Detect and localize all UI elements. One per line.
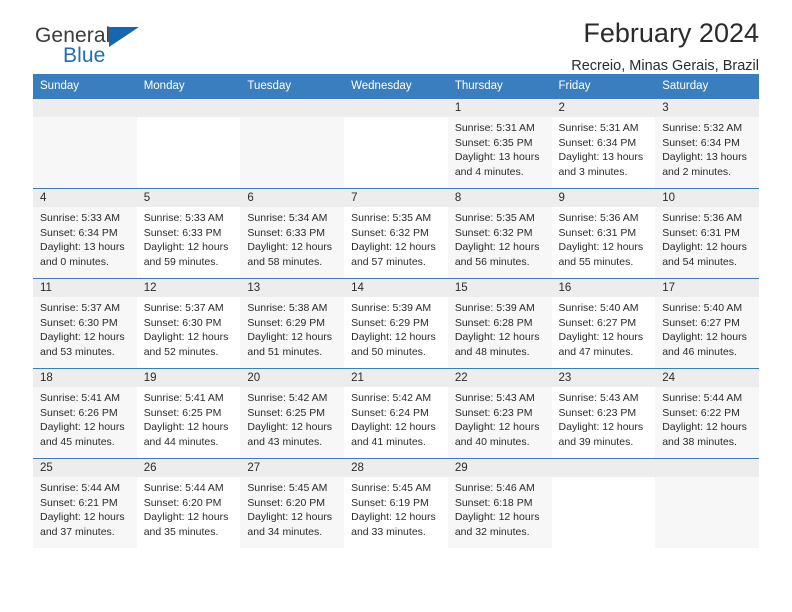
daylight-text-line1: Daylight: 13 hours	[559, 150, 650, 165]
daylight-text-line1: Daylight: 13 hours	[40, 240, 131, 255]
daylight-text-line2: and 2 minutes.	[662, 165, 753, 180]
sunrise-text: Sunrise: 5:38 AM	[247, 301, 338, 316]
day-cell[interactable]: 18 Sunrise: 5:41 AM Sunset: 6:26 PM Dayl…	[33, 369, 137, 459]
calendar-body: 1 Sunrise: 5:31 AM Sunset: 6:35 PM Dayli…	[33, 99, 759, 549]
day-cell[interactable]: 29 Sunrise: 5:46 AM Sunset: 6:18 PM Dayl…	[448, 459, 552, 549]
sunset-text: Sunset: 6:32 PM	[455, 226, 546, 241]
daylight-text-line1: Daylight: 12 hours	[144, 510, 235, 525]
day-number: 11	[33, 279, 137, 297]
day-details: Sunrise: 5:41 AM Sunset: 6:25 PM Dayligh…	[137, 387, 241, 449]
sunrise-text: Sunrise: 5:34 AM	[247, 211, 338, 226]
daylight-text-line2: and 4 minutes.	[455, 165, 546, 180]
daylight-text-line2: and 55 minutes.	[559, 255, 650, 270]
daylight-text-line1: Daylight: 12 hours	[455, 420, 546, 435]
day-number: 29	[448, 459, 552, 477]
daylight-text-line2: and 47 minutes.	[559, 345, 650, 360]
weekday-header-friday: Friday	[552, 74, 656, 99]
general-blue-logo[interactable]: General Blue	[33, 24, 213, 74]
daylight-text-line1: Daylight: 12 hours	[559, 240, 650, 255]
day-cell[interactable]	[552, 459, 656, 549]
sunset-text: Sunset: 6:27 PM	[559, 316, 650, 331]
day-details	[240, 117, 344, 121]
day-number: 9	[552, 189, 656, 207]
sunrise-text: Sunrise: 5:36 AM	[559, 211, 650, 226]
logo-triangle-icon	[109, 27, 139, 47]
day-details: Sunrise: 5:38 AM Sunset: 6:29 PM Dayligh…	[240, 297, 344, 359]
day-details: Sunrise: 5:40 AM Sunset: 6:27 PM Dayligh…	[655, 297, 759, 359]
day-cell[interactable]: 13 Sunrise: 5:38 AM Sunset: 6:29 PM Dayl…	[240, 279, 344, 369]
daylight-text-line1: Daylight: 12 hours	[40, 420, 131, 435]
day-number: 2	[552, 99, 656, 117]
location-subtitle: Recreio, Minas Gerais, Brazil	[571, 57, 759, 75]
week-row: 4 Sunrise: 5:33 AM Sunset: 6:34 PM Dayli…	[33, 189, 759, 279]
day-details: Sunrise: 5:33 AM Sunset: 6:33 PM Dayligh…	[137, 207, 241, 269]
day-cell[interactable]	[137, 99, 241, 189]
day-details: Sunrise: 5:45 AM Sunset: 6:20 PM Dayligh…	[240, 477, 344, 539]
daylight-text-line1: Daylight: 12 hours	[247, 240, 338, 255]
day-cell[interactable]: 19 Sunrise: 5:41 AM Sunset: 6:25 PM Dayl…	[137, 369, 241, 459]
sunrise-text: Sunrise: 5:46 AM	[455, 481, 546, 496]
day-details	[33, 117, 137, 121]
day-cell[interactable]	[655, 459, 759, 549]
day-number: 16	[552, 279, 656, 297]
daylight-text-line2: and 48 minutes.	[455, 345, 546, 360]
day-cell[interactable]: 9 Sunrise: 5:36 AM Sunset: 6:31 PM Dayli…	[552, 189, 656, 279]
sunrise-text: Sunrise: 5:37 AM	[40, 301, 131, 316]
sunrise-text: Sunrise: 5:39 AM	[351, 301, 442, 316]
daylight-text-line2: and 43 minutes.	[247, 435, 338, 450]
day-cell[interactable]: 17 Sunrise: 5:40 AM Sunset: 6:27 PM Dayl…	[655, 279, 759, 369]
day-number: 25	[33, 459, 137, 477]
sunset-text: Sunset: 6:29 PM	[247, 316, 338, 331]
day-number: 27	[240, 459, 344, 477]
day-details: Sunrise: 5:37 AM Sunset: 6:30 PM Dayligh…	[137, 297, 241, 359]
week-row: 25 Sunrise: 5:44 AM Sunset: 6:21 PM Dayl…	[33, 459, 759, 549]
day-cell[interactable]: 26 Sunrise: 5:44 AM Sunset: 6:20 PM Dayl…	[137, 459, 241, 549]
day-cell[interactable]: 21 Sunrise: 5:42 AM Sunset: 6:24 PM Dayl…	[344, 369, 448, 459]
sunset-text: Sunset: 6:20 PM	[144, 496, 235, 511]
day-details: Sunrise: 5:39 AM Sunset: 6:28 PM Dayligh…	[448, 297, 552, 359]
daylight-text-line2: and 45 minutes.	[40, 435, 131, 450]
sunset-text: Sunset: 6:23 PM	[455, 406, 546, 421]
day-number: 14	[344, 279, 448, 297]
sunset-text: Sunset: 6:20 PM	[247, 496, 338, 511]
day-cell[interactable]: 25 Sunrise: 5:44 AM Sunset: 6:21 PM Dayl…	[33, 459, 137, 549]
sunset-text: Sunset: 6:29 PM	[351, 316, 442, 331]
week-row: 11 Sunrise: 5:37 AM Sunset: 6:30 PM Dayl…	[33, 279, 759, 369]
daylight-text-line2: and 35 minutes.	[144, 525, 235, 540]
sunrise-text: Sunrise: 5:44 AM	[144, 481, 235, 496]
sunrise-text: Sunrise: 5:44 AM	[662, 391, 753, 406]
day-number: 13	[240, 279, 344, 297]
weekday-header-saturday: Saturday	[655, 74, 759, 99]
sunrise-text: Sunrise: 5:37 AM	[144, 301, 235, 316]
day-cell[interactable]: 8 Sunrise: 5:35 AM Sunset: 6:32 PM Dayli…	[448, 189, 552, 279]
day-details	[655, 477, 759, 481]
daylight-text-line1: Daylight: 12 hours	[247, 510, 338, 525]
day-cell[interactable]: 7 Sunrise: 5:35 AM Sunset: 6:32 PM Dayli…	[344, 189, 448, 279]
day-number	[552, 459, 656, 477]
sunset-text: Sunset: 6:28 PM	[455, 316, 546, 331]
daylight-text-line1: Daylight: 12 hours	[351, 240, 442, 255]
daylight-text-line2: and 54 minutes.	[662, 255, 753, 270]
weekday-header-row: Sunday Monday Tuesday Wednesday Thursday…	[33, 74, 759, 99]
sunset-text: Sunset: 6:30 PM	[40, 316, 131, 331]
day-number: 26	[137, 459, 241, 477]
daylight-text-line1: Daylight: 12 hours	[247, 330, 338, 345]
sunrise-text: Sunrise: 5:43 AM	[455, 391, 546, 406]
sunset-text: Sunset: 6:25 PM	[144, 406, 235, 421]
daylight-text-line1: Daylight: 12 hours	[40, 330, 131, 345]
daylight-text-line2: and 52 minutes.	[144, 345, 235, 360]
day-details: Sunrise: 5:37 AM Sunset: 6:30 PM Dayligh…	[33, 297, 137, 359]
day-details: Sunrise: 5:39 AM Sunset: 6:29 PM Dayligh…	[344, 297, 448, 359]
day-details: Sunrise: 5:35 AM Sunset: 6:32 PM Dayligh…	[448, 207, 552, 269]
sunrise-text: Sunrise: 5:40 AM	[559, 301, 650, 316]
sunrise-text: Sunrise: 5:35 AM	[351, 211, 442, 226]
daylight-text-line2: and 46 minutes.	[662, 345, 753, 360]
daylight-text-line1: Daylight: 12 hours	[351, 510, 442, 525]
day-cell[interactable]: 27 Sunrise: 5:45 AM Sunset: 6:20 PM Dayl…	[240, 459, 344, 549]
day-cell[interactable]: 11 Sunrise: 5:37 AM Sunset: 6:30 PM Dayl…	[33, 279, 137, 369]
daylight-text-line2: and 41 minutes.	[351, 435, 442, 450]
daylight-text-line1: Daylight: 12 hours	[559, 420, 650, 435]
daylight-text-line1: Daylight: 13 hours	[455, 150, 546, 165]
daylight-text-line2: and 33 minutes.	[351, 525, 442, 540]
daylight-text-line1: Daylight: 12 hours	[662, 330, 753, 345]
daylight-text-line1: Daylight: 13 hours	[662, 150, 753, 165]
day-number: 4	[33, 189, 137, 207]
day-details: Sunrise: 5:43 AM Sunset: 6:23 PM Dayligh…	[448, 387, 552, 449]
sunset-text: Sunset: 6:27 PM	[662, 316, 753, 331]
sunrise-text: Sunrise: 5:45 AM	[247, 481, 338, 496]
sunset-text: Sunset: 6:30 PM	[144, 316, 235, 331]
sunrise-text: Sunrise: 5:31 AM	[455, 121, 546, 136]
day-cell[interactable]	[240, 99, 344, 189]
weekday-header-thursday: Thursday	[448, 74, 552, 99]
daylight-text-line2: and 57 minutes.	[351, 255, 442, 270]
daylight-text-line1: Daylight: 12 hours	[247, 420, 338, 435]
day-number: 21	[344, 369, 448, 387]
sunrise-text: Sunrise: 5:40 AM	[662, 301, 753, 316]
day-number	[33, 99, 137, 117]
day-details: Sunrise: 5:42 AM Sunset: 6:24 PM Dayligh…	[344, 387, 448, 449]
sunrise-text: Sunrise: 5:42 AM	[247, 391, 338, 406]
daylight-text-line1: Daylight: 12 hours	[144, 240, 235, 255]
sunrise-text: Sunrise: 5:43 AM	[559, 391, 650, 406]
weekday-header-wednesday: Wednesday	[344, 74, 448, 99]
sunrise-text: Sunrise: 5:32 AM	[662, 121, 753, 136]
day-cell[interactable]: 20 Sunrise: 5:42 AM Sunset: 6:25 PM Dayl…	[240, 369, 344, 459]
sunset-text: Sunset: 6:21 PM	[40, 496, 131, 511]
sunset-text: Sunset: 6:33 PM	[247, 226, 338, 241]
weekday-header-sunday: Sunday	[33, 74, 137, 99]
day-details: Sunrise: 5:36 AM Sunset: 6:31 PM Dayligh…	[552, 207, 656, 269]
daylight-text-line2: and 38 minutes.	[662, 435, 753, 450]
sunrise-text: Sunrise: 5:33 AM	[144, 211, 235, 226]
day-cell[interactable]: 24 Sunrise: 5:44 AM Sunset: 6:22 PM Dayl…	[655, 369, 759, 459]
daylight-text-line2: and 34 minutes.	[247, 525, 338, 540]
day-details	[344, 117, 448, 121]
sunrise-text: Sunrise: 5:36 AM	[662, 211, 753, 226]
sunset-text: Sunset: 6:31 PM	[662, 226, 753, 241]
day-number: 6	[240, 189, 344, 207]
daylight-text-line1: Daylight: 12 hours	[40, 510, 131, 525]
sunset-text: Sunset: 6:31 PM	[559, 226, 650, 241]
day-cell[interactable]: 2 Sunrise: 5:31 AM Sunset: 6:34 PM Dayli…	[552, 99, 656, 189]
daylight-text-line1: Daylight: 12 hours	[351, 330, 442, 345]
sunset-text: Sunset: 6:26 PM	[40, 406, 131, 421]
day-cell[interactable]: 22 Sunrise: 5:43 AM Sunset: 6:23 PM Dayl…	[448, 369, 552, 459]
day-cell[interactable]: 4 Sunrise: 5:33 AM Sunset: 6:34 PM Dayli…	[33, 189, 137, 279]
sunrise-text: Sunrise: 5:42 AM	[351, 391, 442, 406]
day-details	[137, 117, 241, 121]
day-number: 20	[240, 369, 344, 387]
sunset-text: Sunset: 6:34 PM	[40, 226, 131, 241]
daylight-text-line2: and 51 minutes.	[247, 345, 338, 360]
day-number: 28	[344, 459, 448, 477]
daylight-text-line2: and 0 minutes.	[40, 255, 131, 270]
daylight-text-line2: and 59 minutes.	[144, 255, 235, 270]
sunset-text: Sunset: 6:23 PM	[559, 406, 650, 421]
day-details: Sunrise: 5:44 AM Sunset: 6:22 PM Dayligh…	[655, 387, 759, 449]
daylight-text-line1: Daylight: 12 hours	[455, 330, 546, 345]
day-details: Sunrise: 5:32 AM Sunset: 6:34 PM Dayligh…	[655, 117, 759, 179]
sunset-text: Sunset: 6:33 PM	[144, 226, 235, 241]
weekday-header-monday: Monday	[137, 74, 241, 99]
daylight-text-line2: and 39 minutes.	[559, 435, 650, 450]
day-number: 24	[655, 369, 759, 387]
sunset-text: Sunset: 6:35 PM	[455, 136, 546, 151]
day-number: 12	[137, 279, 241, 297]
day-details: Sunrise: 5:40 AM Sunset: 6:27 PM Dayligh…	[552, 297, 656, 359]
daylight-text-line2: and 56 minutes.	[455, 255, 546, 270]
daylight-text-line1: Daylight: 12 hours	[662, 420, 753, 435]
day-cell[interactable]: 1 Sunrise: 5:31 AM Sunset: 6:35 PM Dayli…	[448, 99, 552, 189]
day-cell[interactable]: 23 Sunrise: 5:43 AM Sunset: 6:23 PM Dayl…	[552, 369, 656, 459]
day-number: 8	[448, 189, 552, 207]
day-number: 5	[137, 189, 241, 207]
daylight-text-line1: Daylight: 12 hours	[144, 420, 235, 435]
sunset-text: Sunset: 6:18 PM	[455, 496, 546, 511]
day-cell[interactable]: 15 Sunrise: 5:39 AM Sunset: 6:28 PM Dayl…	[448, 279, 552, 369]
sunrise-text: Sunrise: 5:39 AM	[455, 301, 546, 316]
day-cell[interactable]: 3 Sunrise: 5:32 AM Sunset: 6:34 PM Dayli…	[655, 99, 759, 189]
page-title: February 2024	[571, 16, 759, 50]
day-details: Sunrise: 5:42 AM Sunset: 6:25 PM Dayligh…	[240, 387, 344, 449]
sunrise-text: Sunrise: 5:35 AM	[455, 211, 546, 226]
daylight-text-line2: and 37 minutes.	[40, 525, 131, 540]
sunset-text: Sunset: 6:25 PM	[247, 406, 338, 421]
day-cell[interactable]: 28 Sunrise: 5:45 AM Sunset: 6:19 PM Dayl…	[344, 459, 448, 549]
daylight-text-line1: Daylight: 12 hours	[455, 510, 546, 525]
sunset-text: Sunset: 6:19 PM	[351, 496, 442, 511]
day-details: Sunrise: 5:44 AM Sunset: 6:20 PM Dayligh…	[137, 477, 241, 539]
daylight-text-line1: Daylight: 12 hours	[662, 240, 753, 255]
day-number: 17	[655, 279, 759, 297]
day-number: 18	[33, 369, 137, 387]
day-details: Sunrise: 5:43 AM Sunset: 6:23 PM Dayligh…	[552, 387, 656, 449]
calendar-page: General Blue February 2024 Recreio, Mina…	[0, 0, 792, 612]
sunrise-text: Sunrise: 5:45 AM	[351, 481, 442, 496]
sunset-text: Sunset: 6:24 PM	[351, 406, 442, 421]
day-cell[interactable]: 16 Sunrise: 5:40 AM Sunset: 6:27 PM Dayl…	[552, 279, 656, 369]
day-details: Sunrise: 5:33 AM Sunset: 6:34 PM Dayligh…	[33, 207, 137, 269]
day-details: Sunrise: 5:44 AM Sunset: 6:21 PM Dayligh…	[33, 477, 137, 539]
day-number: 23	[552, 369, 656, 387]
day-number: 1	[448, 99, 552, 117]
sunrise-text: Sunrise: 5:41 AM	[40, 391, 131, 406]
day-number	[240, 99, 344, 117]
day-details: Sunrise: 5:35 AM Sunset: 6:32 PM Dayligh…	[344, 207, 448, 269]
day-details: Sunrise: 5:41 AM Sunset: 6:26 PM Dayligh…	[33, 387, 137, 449]
day-details: Sunrise: 5:31 AM Sunset: 6:34 PM Dayligh…	[552, 117, 656, 179]
day-number	[344, 99, 448, 117]
day-number: 19	[137, 369, 241, 387]
day-details: Sunrise: 5:45 AM Sunset: 6:19 PM Dayligh…	[344, 477, 448, 539]
sunset-text: Sunset: 6:34 PM	[662, 136, 753, 151]
daylight-text-line1: Daylight: 12 hours	[351, 420, 442, 435]
sunrise-text: Sunrise: 5:44 AM	[40, 481, 131, 496]
day-number: 10	[655, 189, 759, 207]
daylight-text-line2: and 44 minutes.	[144, 435, 235, 450]
day-number: 3	[655, 99, 759, 117]
day-details: Sunrise: 5:46 AM Sunset: 6:18 PM Dayligh…	[448, 477, 552, 539]
day-number: 22	[448, 369, 552, 387]
day-details: Sunrise: 5:34 AM Sunset: 6:33 PM Dayligh…	[240, 207, 344, 269]
sunset-text: Sunset: 6:32 PM	[351, 226, 442, 241]
weekday-header-tuesday: Tuesday	[240, 74, 344, 99]
sunrise-text: Sunrise: 5:41 AM	[144, 391, 235, 406]
week-row: 1 Sunrise: 5:31 AM Sunset: 6:35 PM Dayli…	[33, 99, 759, 189]
sunrise-text: Sunrise: 5:31 AM	[559, 121, 650, 136]
logo-text-blue: Blue	[63, 44, 105, 68]
daylight-text-line2: and 53 minutes.	[40, 345, 131, 360]
daylight-text-line1: Daylight: 12 hours	[559, 330, 650, 345]
daylight-text-line2: and 32 minutes.	[455, 525, 546, 540]
daylight-text-line2: and 50 minutes.	[351, 345, 442, 360]
day-details	[552, 477, 656, 481]
week-row: 18 Sunrise: 5:41 AM Sunset: 6:26 PM Dayl…	[33, 369, 759, 459]
daylight-text-line1: Daylight: 12 hours	[144, 330, 235, 345]
daylight-text-line2: and 58 minutes.	[247, 255, 338, 270]
day-number: 7	[344, 189, 448, 207]
day-details: Sunrise: 5:36 AM Sunset: 6:31 PM Dayligh…	[655, 207, 759, 269]
day-number	[655, 459, 759, 477]
sunrise-text: Sunrise: 5:33 AM	[40, 211, 131, 226]
daylight-text-line1: Daylight: 12 hours	[455, 240, 546, 255]
sunset-text: Sunset: 6:34 PM	[559, 136, 650, 151]
day-cell[interactable]: 10 Sunrise: 5:36 AM Sunset: 6:31 PM Dayl…	[655, 189, 759, 279]
title-block: February 2024 Recreio, Minas Gerais, Bra…	[571, 16, 759, 75]
daylight-text-line2: and 40 minutes.	[455, 435, 546, 450]
day-cell[interactable]: 6 Sunrise: 5:34 AM Sunset: 6:33 PM Dayli…	[240, 189, 344, 279]
day-cell[interactable]	[344, 99, 448, 189]
day-details: Sunrise: 5:31 AM Sunset: 6:35 PM Dayligh…	[448, 117, 552, 179]
day-number	[137, 99, 241, 117]
day-cell[interactable]: 14 Sunrise: 5:39 AM Sunset: 6:29 PM Dayl…	[344, 279, 448, 369]
page-header: General Blue February 2024 Recreio, Mina…	[33, 0, 759, 74]
day-cell[interactable]: 12 Sunrise: 5:37 AM Sunset: 6:30 PM Dayl…	[137, 279, 241, 369]
day-number: 15	[448, 279, 552, 297]
sunset-text: Sunset: 6:22 PM	[662, 406, 753, 421]
day-cell[interactable]	[33, 99, 137, 189]
sunrise-sunset-calendar: Sunday Monday Tuesday Wednesday Thursday…	[33, 74, 759, 548]
day-cell[interactable]: 5 Sunrise: 5:33 AM Sunset: 6:33 PM Dayli…	[137, 189, 241, 279]
daylight-text-line2: and 3 minutes.	[559, 165, 650, 180]
